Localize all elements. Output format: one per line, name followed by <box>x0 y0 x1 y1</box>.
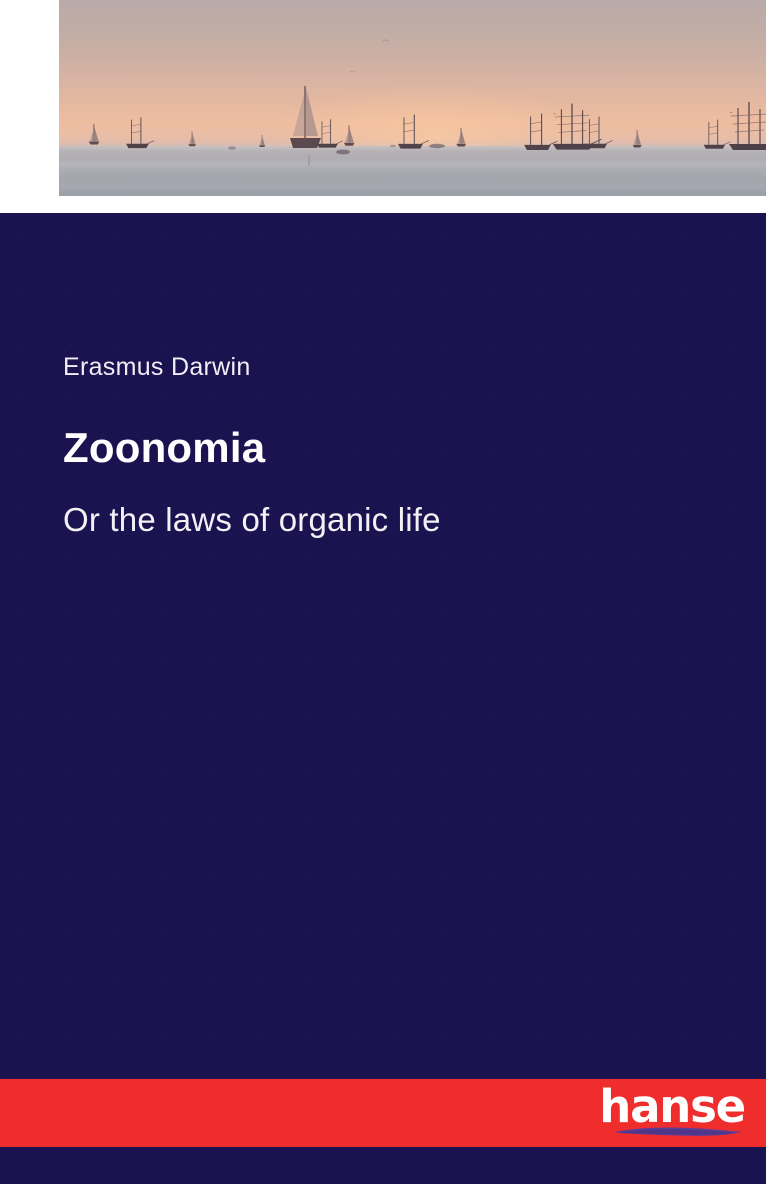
publisher-logo-text: hanse <box>599 1084 745 1129</box>
cover-body: Erasmus Darwin Zoonomia Or the laws of o… <box>0 213 766 1184</box>
cover-photo-area <box>0 0 766 213</box>
book-subtitle: Or the laws of organic life <box>63 501 441 539</box>
cover-photograph <box>59 0 766 196</box>
photo-sailing-ships <box>59 0 766 196</box>
author-name: Erasmus Darwin <box>63 353 251 382</box>
publisher-logo-swoosh-icon <box>612 1126 743 1137</box>
publisher-logo: hanse <box>605 1081 745 1143</box>
book-cover: Erasmus Darwin Zoonomia Or the laws of o… <box>0 0 766 1184</box>
book-title: Zoonomia <box>63 424 265 472</box>
